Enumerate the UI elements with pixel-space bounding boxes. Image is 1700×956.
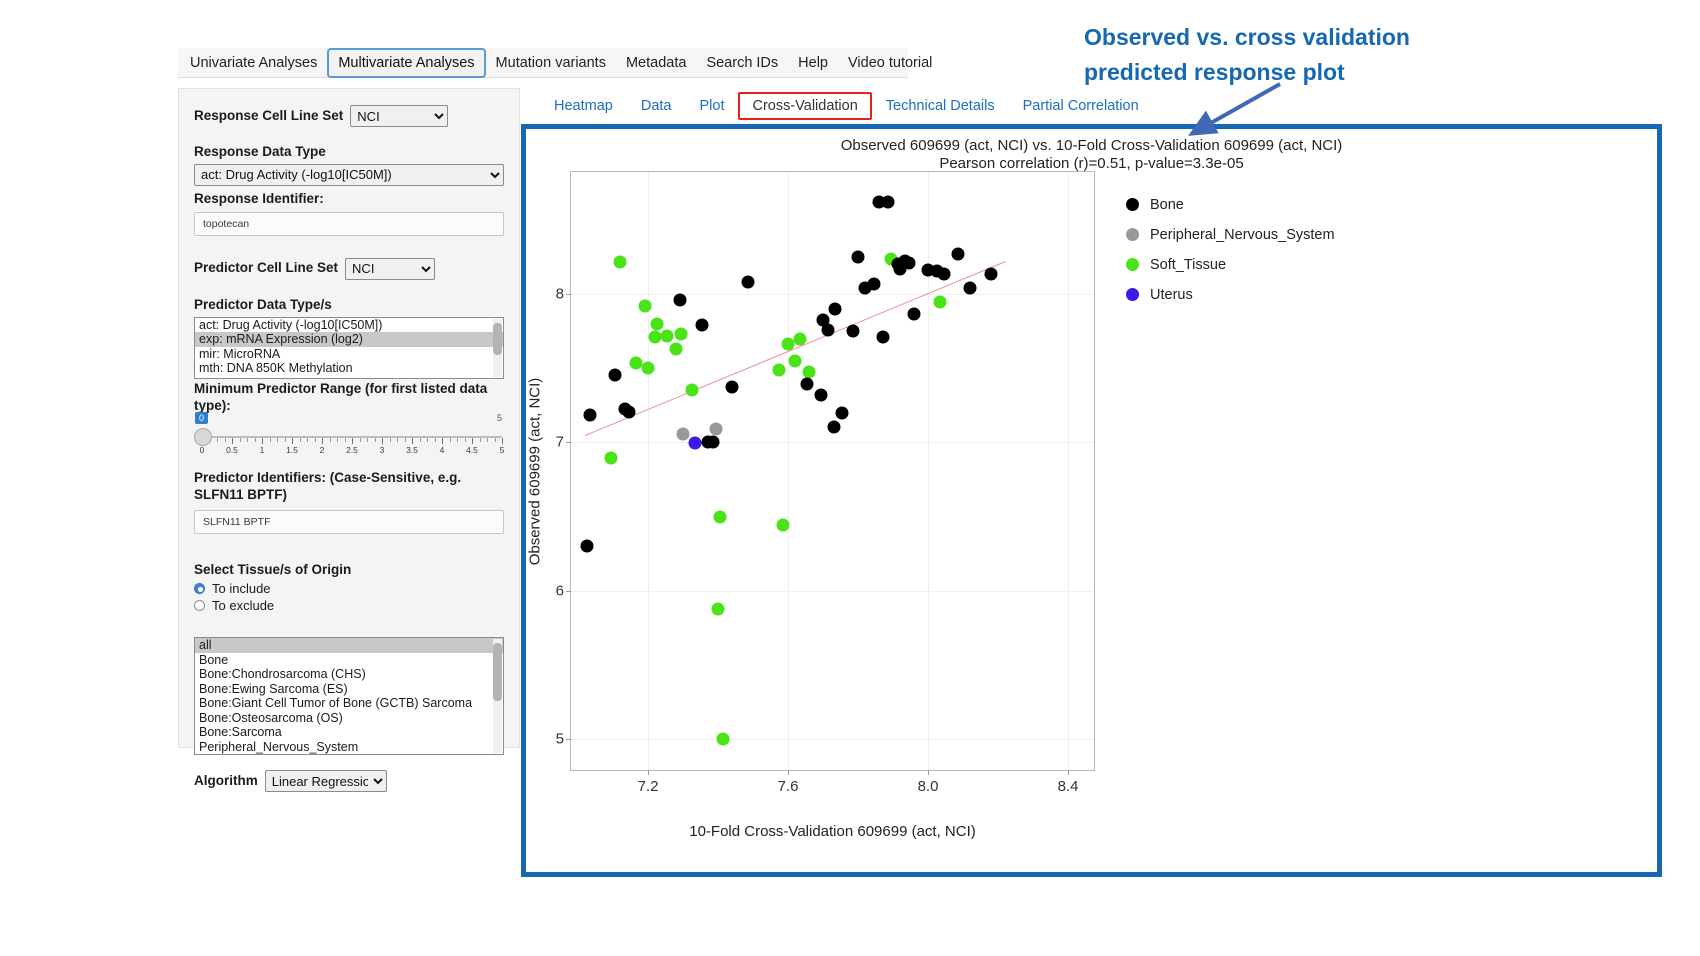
subtab-heatmap[interactable]: Heatmap	[540, 92, 627, 120]
tissue-include-label: To include	[212, 581, 271, 596]
radio-exclude-icon[interactable]	[194, 600, 205, 611]
slider-tick	[330, 438, 331, 442]
scatter-point[interactable]	[642, 362, 655, 375]
scatter-point[interactable]	[608, 368, 621, 381]
scatter-point[interactable]	[822, 324, 835, 337]
nav-tab-mutation-variants[interactable]: Mutation variants	[486, 49, 616, 77]
scatter-point[interactable]	[951, 247, 964, 260]
scatter-point[interactable]	[712, 603, 725, 616]
response-data-type-label: Response Data Type	[194, 144, 504, 161]
x-tick-label: 8.0	[918, 770, 939, 795]
subtab-plot[interactable]: Plot	[685, 92, 738, 120]
scatter-point[interactable]	[713, 510, 726, 523]
scatter-point[interactable]	[846, 324, 859, 337]
scatter-point[interactable]	[782, 338, 795, 351]
tissue-exclude-label: To exclude	[212, 598, 274, 613]
x-tick-label: 7.6	[778, 770, 799, 795]
predictor-identifiers-input[interactable]: SLFN11 BPTF	[194, 510, 504, 534]
min-predictor-range-slider[interactable]: 0 5 00.511.522.533.544.55	[194, 416, 504, 456]
scatter-point[interactable]	[852, 251, 865, 264]
list-item[interactable]: mth: DNA 850K Methylation	[195, 361, 503, 376]
slider-tick	[427, 438, 428, 442]
slider-tick	[495, 438, 496, 442]
slider-tick	[382, 438, 383, 444]
algorithm-select[interactable]: Linear Regression	[265, 770, 387, 792]
nav-tab-video-tutorial[interactable]: Video tutorial	[838, 49, 942, 77]
gridline	[788, 172, 789, 770]
scatter-point[interactable]	[776, 519, 789, 532]
plot-title: Observed 609699 (act, NCI) vs. 10-Fold C…	[526, 137, 1657, 173]
response-cell-line-set-row: Response Cell Line Set NCI	[194, 105, 504, 127]
slider-tick-label: 0	[200, 445, 205, 455]
slider-tick	[270, 438, 271, 442]
nav-tab-multivariate-analyses[interactable]: Multivariate Analyses	[327, 48, 485, 78]
subtab-partial-correlation[interactable]: Partial Correlation	[1009, 92, 1153, 120]
slider-value-bubble: 0	[195, 412, 208, 424]
scatter-point[interactable]	[829, 302, 842, 315]
legend-item[interactable]: Bone	[1126, 193, 1335, 216]
subtab-data[interactable]: Data	[627, 92, 686, 120]
slider-tick	[375, 438, 376, 442]
slider-tick	[352, 438, 353, 444]
scatter-point[interactable]	[622, 405, 635, 418]
x-axis-label: 10-Fold Cross-Validation 609699 (act, NC…	[570, 823, 1095, 840]
nav-tab-univariate-analyses[interactable]: Univariate Analyses	[180, 49, 327, 77]
slider-tick	[480, 438, 481, 442]
gridline	[571, 739, 1094, 740]
scrollbar-thumb[interactable]	[493, 323, 502, 355]
algorithm-row: Algorithm Linear Regression	[194, 770, 504, 792]
response-identifier-input[interactable]: topotecan	[194, 212, 504, 236]
predictor-cell-line-set-select[interactable]: NCI	[345, 258, 435, 280]
scatter-point[interactable]	[661, 330, 674, 343]
scatter-point[interactable]	[876, 330, 889, 343]
predictor-cell-line-set-label: Predictor Cell Line Set	[194, 260, 338, 277]
scatter-point[interactable]	[706, 435, 719, 448]
gridline	[571, 442, 1094, 443]
scatter-point[interactable]	[803, 366, 816, 379]
slider-tick-label: 4	[440, 445, 445, 455]
list-item[interactable]: exp: mRNA Expression (log2)	[195, 332, 503, 347]
x-tick-label: 8.4	[1058, 770, 1079, 795]
x-tick-label: 7.2	[638, 770, 659, 795]
scatter-point[interactable]	[677, 428, 690, 441]
slider-tick	[247, 438, 248, 442]
list-item[interactable]: act: Drug Activity (-log10[IC50M])	[195, 318, 503, 333]
scatter-point[interactable]	[689, 437, 702, 450]
scatter-point[interactable]	[801, 378, 814, 391]
list-item[interactable]: Peripheral_Nervous_System	[195, 740, 503, 755]
plot-inner: Observed 609699 (act, NCI) vs. 10-Fold C…	[526, 129, 1657, 872]
slider-tick-label: 5	[500, 445, 505, 455]
slider-tick	[367, 438, 368, 442]
slider-tick	[360, 438, 361, 442]
scatter-point[interactable]	[675, 327, 688, 340]
tissue-include-radio-row[interactable]: To include	[194, 581, 504, 596]
list-item[interactable]: Bone:Sarcoma	[195, 725, 503, 740]
tissue-listbox[interactable]: all Bone Bone:Chondrosarcoma (CHS) Bone:…	[194, 637, 504, 755]
slider-tick-label: 2.5	[346, 445, 358, 455]
gridline	[928, 172, 929, 770]
cross-validation-plot-panel: Observed 609699 (act, NCI) vs. 10-Fold C…	[521, 124, 1662, 877]
scatter-point[interactable]	[670, 343, 683, 356]
slider-tick	[502, 438, 503, 444]
listbox-scrollbar[interactable]	[493, 639, 502, 753]
legend-label: Peripheral_Nervous_System	[1150, 227, 1335, 243]
slider-tick	[262, 438, 263, 444]
scatter-point[interactable]	[827, 420, 840, 433]
legend-label: Bone	[1150, 197, 1184, 213]
list-item[interactable]: Bone:Osteosarcoma (OS)	[195, 711, 503, 726]
y-tick-label: 8	[556, 285, 571, 302]
list-item[interactable]: Bone:Ewing Sarcoma (ES)	[195, 682, 503, 697]
radio-include-icon[interactable]	[194, 583, 205, 594]
plot-axes-area: 7.27.68.08.45678	[570, 171, 1095, 771]
predictor-data-types-listbox[interactable]: act: Drug Activity (-log10[IC50M]) exp: …	[194, 317, 504, 379]
legend-label: Uterus	[1150, 287, 1193, 303]
scatter-point[interactable]	[934, 295, 947, 308]
scatter-point[interactable]	[580, 539, 593, 552]
slider-tick	[420, 438, 421, 442]
scatter-point[interactable]	[710, 422, 723, 435]
slider-tick-label: 4.5	[466, 445, 478, 455]
legend-color-swatch	[1126, 198, 1139, 211]
response-cell-line-set-select[interactable]: NCI	[350, 105, 448, 127]
slider-tick	[232, 438, 233, 444]
scatter-point[interactable]	[815, 388, 828, 401]
scatter-point[interactable]	[867, 278, 880, 291]
slider-tick	[292, 438, 293, 444]
legend-color-swatch	[1126, 258, 1139, 271]
slider-tick	[255, 438, 256, 442]
response-data-type-select[interactable]: act: Drug Activity (-log10[IC50M])	[194, 164, 504, 186]
main-nav-tabs: Univariate AnalysesMultivariate Analyses…	[178, 48, 908, 78]
list-item[interactable]: Bone:Chondrosarcoma (CHS)	[195, 667, 503, 682]
scatter-point[interactable]	[605, 451, 618, 464]
scatter-point[interactable]	[741, 275, 754, 288]
predictor-data-types-label: Predictor Data Type/s	[194, 297, 504, 314]
slider-tick	[315, 438, 316, 442]
slider-tick	[240, 438, 241, 442]
controls-sidebar: Response Cell Line Set NCI Response Data…	[178, 88, 520, 748]
min-predictor-range-label: Minimum Predictor Range (for first liste…	[194, 381, 504, 415]
slider-tick	[412, 438, 413, 444]
slider-tick-label: 3	[380, 445, 385, 455]
scatter-point[interactable]	[908, 307, 921, 320]
subtab-cross-validation[interactable]: Cross-Validation	[738, 92, 871, 120]
scatter-point[interactable]	[717, 733, 730, 746]
legend-color-swatch	[1126, 228, 1139, 241]
scatter-point[interactable]	[696, 318, 709, 331]
slider-tick	[465, 438, 466, 442]
scatter-point[interactable]	[726, 380, 739, 393]
annotation-arrow-icon	[1180, 82, 1300, 142]
y-tick-label: 5	[556, 731, 571, 748]
slider-tick	[225, 438, 226, 442]
gridline	[571, 294, 1094, 295]
legend-item[interactable]: Peripheral_Nervous_System	[1126, 223, 1335, 246]
plot-subtabs: HeatmapDataPlotCross-ValidationTechnical…	[540, 92, 1153, 120]
scatter-point[interactable]	[794, 333, 807, 346]
y-axis-label: Observed 609699 (act, NCI)	[524, 171, 546, 771]
scatter-point[interactable]	[649, 330, 662, 343]
slider-tick-label: 1.5	[286, 445, 298, 455]
list-item[interactable]: Bone	[195, 653, 503, 668]
predictor-cell-line-set-row: Predictor Cell Line Set NCI	[194, 258, 504, 280]
plot-legend: BonePeripheral_Nervous_SystemSoft_Tissue…	[1126, 193, 1335, 313]
scatter-point[interactable]	[985, 268, 998, 281]
tissue-section-label: Select Tissue/s of Origin	[194, 562, 504, 579]
response-cell-line-set-label: Response Cell Line Set	[194, 108, 343, 125]
nav-tab-metadata[interactable]: Metadata	[616, 49, 696, 77]
slider-tick	[217, 438, 218, 442]
scatter-point[interactable]	[685, 384, 698, 397]
legend-label: Soft_Tissue	[1150, 257, 1226, 273]
slider-ticks: 00.511.522.533.544.55	[202, 438, 502, 456]
slider-tick-label: 0.5	[226, 445, 238, 455]
slider-tick	[397, 438, 398, 442]
gridline	[571, 591, 1094, 592]
listbox-scrollbar[interactable]	[493, 319, 502, 377]
algorithm-label: Algorithm	[194, 773, 258, 790]
list-item[interactable]: mir: MicroRNA	[195, 347, 503, 362]
legend-item[interactable]: Soft_Tissue	[1126, 253, 1335, 276]
slider-tick-label: 1	[260, 445, 265, 455]
slider-tick	[487, 438, 488, 442]
y-tick-label: 7	[556, 434, 571, 451]
scatter-point[interactable]	[673, 294, 686, 307]
predictor-identifiers-label: Predictor Identifiers: (Case-Sensitive, …	[194, 470, 504, 504]
slider-tick-label: 2	[320, 445, 325, 455]
legend-item[interactable]: Uterus	[1126, 283, 1335, 306]
scatter-point[interactable]	[836, 407, 849, 420]
slider-max-label: 5	[497, 413, 502, 423]
plot-title-line1: Observed 609699 (act, NCI) vs. 10-Fold C…	[526, 137, 1657, 155]
scatter-point[interactable]	[894, 263, 907, 276]
slider-tick	[345, 438, 346, 442]
slider-tick	[442, 438, 443, 444]
scatter-point[interactable]	[881, 196, 894, 209]
list-item[interactable]: all	[195, 638, 503, 653]
slider-tick	[450, 438, 451, 442]
slider-tick	[472, 438, 473, 444]
list-item[interactable]: Bone:Giant Cell Tumor of Bone (GCTB) Sar…	[195, 696, 503, 711]
slider-tick-label: 3.5	[406, 445, 418, 455]
gridline	[648, 172, 649, 770]
y-tick-label: 6	[556, 582, 571, 599]
scatter-point[interactable]	[584, 408, 597, 421]
slider-tick	[277, 438, 278, 442]
slider-tick	[435, 438, 436, 442]
slider-tick	[457, 438, 458, 442]
annotation-text: Observed vs. cross validation predicted …	[1084, 20, 1504, 89]
slider-tick	[322, 438, 323, 444]
scrollbar-thumb[interactable]	[493, 643, 502, 701]
gridline	[1068, 172, 1069, 770]
scatter-point[interactable]	[937, 268, 950, 281]
slider-tick	[285, 438, 286, 442]
subtab-technical-details[interactable]: Technical Details	[872, 92, 1009, 120]
slider-tick	[390, 438, 391, 442]
response-identifier-label: Response Identifier:	[194, 191, 504, 208]
scatter-point[interactable]	[650, 318, 663, 331]
legend-color-swatch	[1126, 288, 1139, 301]
slider-tick	[300, 438, 301, 442]
scatter-point[interactable]	[773, 363, 786, 376]
scatter-point[interactable]	[964, 281, 977, 294]
slider-tick	[405, 438, 406, 442]
tissue-exclude-radio-row[interactable]: To exclude	[194, 598, 504, 613]
nav-tab-help[interactable]: Help	[788, 49, 838, 77]
slider-tick	[337, 438, 338, 442]
scatter-point[interactable]	[629, 356, 642, 369]
scatter-point[interactable]	[638, 300, 651, 313]
scatter-point[interactable]	[789, 355, 802, 368]
scatter-point[interactable]	[614, 255, 627, 268]
nav-tab-search-ids[interactable]: Search IDs	[696, 49, 788, 77]
slider-tick	[307, 438, 308, 442]
